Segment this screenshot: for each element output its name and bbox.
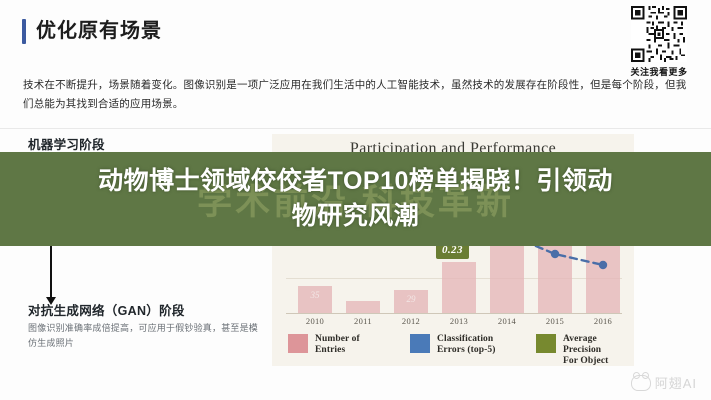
cat-face-icon — [631, 375, 651, 391]
x-tick-2010: 2010 — [298, 316, 332, 326]
legend-label-line2: Entries — [315, 345, 360, 356]
intro-paragraph: 技术在不断提升，场景随着变化。图像识别是一项广泛应用在我们生活中的人工智能技术，… — [23, 76, 689, 114]
screenshot-root: 优化原有场景 — [0, 0, 711, 400]
legend-item-average-precision: Average Precision For Object Detection — [536, 334, 628, 366]
legend-label-line2: For Object Detection — [563, 356, 628, 366]
legend-label-line1: Number of — [315, 334, 360, 345]
watermark-text: 阿翅AI — [655, 373, 697, 392]
stage-desc: 图像识别准确率成倍提高，可应用于假钞验真，甚至是模仿生成照片 — [28, 321, 260, 351]
qr-code-icon[interactable] — [631, 6, 687, 62]
legend-label-line1: Average Precision — [563, 334, 628, 356]
legend-label: Classification Errors (top-5) — [437, 334, 495, 356]
legend-swatch-blue — [410, 334, 430, 353]
x-tick-2011: 2011 — [346, 316, 380, 326]
legend-label: Number of Entries — [315, 334, 360, 356]
chart-legend: Number of Entries Classification Errors … — [288, 334, 628, 366]
bottom-watermark: 阿翅AI — [631, 373, 697, 392]
x-tick-2016: 2016 — [586, 316, 620, 326]
stage-item-gan: 对抗生成网络（GAN）阶段 图像识别准确率成倍提高，可应用于假钞验真，甚至是模仿… — [28, 302, 260, 351]
overlay-banner: 学术前沿 科技革新 动物博士领域佼佼者TOP10榜单揭晓！引领动 物研究风潮 — [0, 152, 711, 246]
x-tick-2012: 2012 — [394, 316, 428, 326]
header-accent-bar — [22, 19, 26, 44]
x-tick-2013: 2013 — [442, 316, 476, 326]
page-title: 优化原有场景 — [36, 19, 162, 44]
banner-headline: 动物博士领域佼佼者TOP10榜单揭晓！引领动 物研究风潮 — [0, 152, 711, 246]
legend-swatch-green — [536, 334, 556, 353]
qr-block: 关注我看更多 — [623, 6, 695, 78]
legend-label-line1: Classification — [437, 334, 495, 345]
banner-headline-line1: 动物博士领域佼佼者TOP10榜单揭晓！引领动 — [98, 164, 613, 199]
legend-label: Average Precision For Object Detection — [563, 334, 628, 366]
x-tick-labels: 2010 2011 2012 2013 2014 2015 2016 — [286, 316, 622, 330]
page-header: 优化原有场景 — [22, 19, 162, 44]
x-tick-2015: 2015 — [538, 316, 572, 326]
x-tick-2014: 2014 — [490, 316, 524, 326]
legend-swatch-pink — [288, 334, 308, 353]
stage-title: 对抗生成网络（GAN）阶段 — [28, 302, 260, 320]
legend-label-line2: Errors (top-5) — [437, 345, 495, 356]
header-divider — [0, 128, 711, 129]
legend-item-number-of-entries: Number of Entries — [288, 334, 410, 366]
banner-headline-line2: 物研究风潮 — [292, 199, 420, 234]
down-arrow-icon — [50, 244, 52, 298]
legend-item-classification-errors: Classification Errors (top-5) — [410, 334, 536, 366]
